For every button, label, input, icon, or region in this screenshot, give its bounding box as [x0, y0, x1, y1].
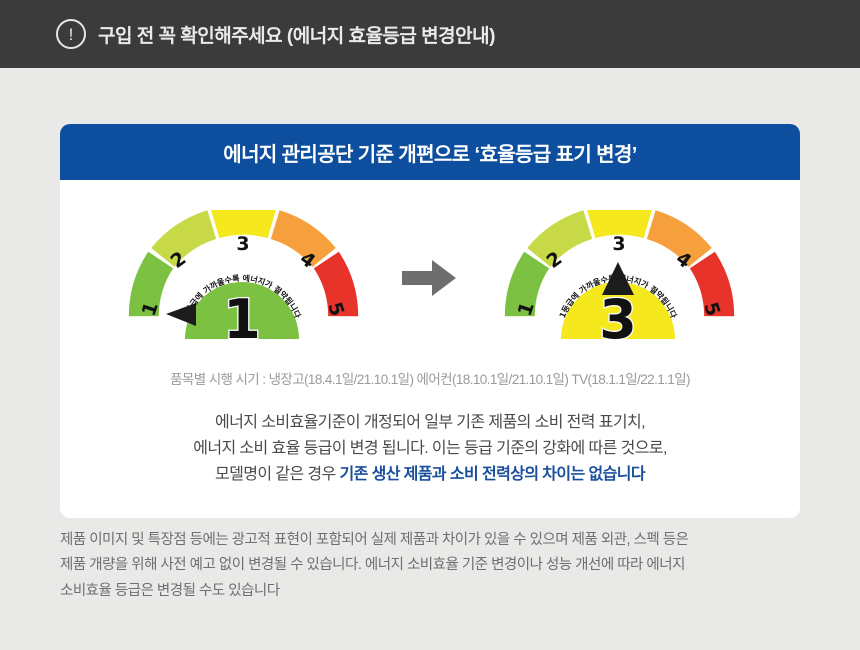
- card-banner-title: 에너지 관리공단 기준 개편으로 ‘효율등급 표기 변경’: [223, 138, 636, 167]
- schedule-note: 품목별 시행 시기 : 냉장고(18.4.1일/21.10.1일) 에어컨(18…: [80, 368, 780, 388]
- notice-header-bar: ! 구입 전 꼭 확인해주세요 (에너지 효율등급 변경안내): [0, 0, 860, 68]
- disclaimer-line-2: 제품 개량을 위해 사전 예고 없이 변경될 수 있습니다. 에너지 소비효율 …: [60, 553, 800, 578]
- notice-paragraph-line-3: 모델명이 같은 경우 기존 생산 제품과 소비 전력상의 차이는 없습니다: [80, 462, 780, 488]
- page-title: 구입 전 꼭 확인해주세요 (에너지 효율등급 변경안내): [98, 21, 495, 48]
- exclamation-glyph: !: [69, 26, 74, 43]
- gauge-comparison: 1 2 3 4 5 1등급에 가까울수록 에너지가 절약됩니다 1: [80, 210, 780, 346]
- before-gauge-svg: 1 2 3 4 5 1등급에 가까울수록 에너지가 절약됩니다 1: [113, 210, 371, 346]
- transition-arrow: [399, 253, 461, 303]
- segment-3-arc: [591, 220, 648, 224]
- before-gauge-pointer: [166, 303, 196, 326]
- before-grade-number: 1: [223, 288, 261, 346]
- notice-paragraph-line-2: 에너지 소비 효율 등급이 변경 됩니다. 이는 등급 기준의 강화에 따른 것…: [80, 436, 780, 462]
- segment-label-3: 3: [612, 233, 625, 255]
- notice-paragraph: 에너지 소비효율기준이 개정되어 일부 기존 제품의 소비 전력 표기치, 에너…: [80, 410, 780, 488]
- after-gauge-svg: 1 2 3 4 5 1등급에 가까울수록 에너지가 절약됩니다 3: [489, 210, 747, 346]
- energy-grade-card: 에너지 관리공단 기준 개편으로 ‘효율등급 표기 변경’: [60, 124, 800, 518]
- exclamation-circle-icon: !: [56, 19, 86, 49]
- disclaimer-line-3: 소비효율 등급은 변경될 수도 있습니다: [60, 579, 800, 604]
- after-grade-number: 3: [599, 288, 637, 346]
- after-gauge: 1 2 3 4 5 1등급에 가까울수록 에너지가 절약됩니다 3: [489, 210, 747, 346]
- segment-3-arc: [215, 220, 272, 224]
- notice-paragraph-highlight: 기존 생산 제품과 소비 전력상의 차이는 없습니다: [340, 466, 645, 483]
- notice-paragraph-line-3-plain: 모델명이 같은 경우: [215, 466, 340, 483]
- disclaimer-text: 제품 이미지 및 특장점 등에는 광고적 표현이 포함되어 실제 제품과 차이가…: [60, 528, 800, 604]
- before-gauge: 1 2 3 4 5 1등급에 가까울수록 에너지가 절약됩니다 1: [113, 210, 371, 346]
- card-body: 1 2 3 4 5 1등급에 가까울수록 에너지가 절약됩니다 1: [60, 180, 800, 518]
- right-arrow-shape: [402, 260, 456, 296]
- disclaimer-line-1: 제품 이미지 및 특장점 등에는 광고적 표현이 포함되어 실제 제품과 차이가…: [60, 528, 800, 553]
- segment-label-3: 3: [236, 233, 249, 255]
- right-arrow-icon: [402, 258, 458, 298]
- card-banner: 에너지 관리공단 기준 개편으로 ‘효율등급 표기 변경’: [60, 124, 800, 180]
- notice-paragraph-line-1: 에너지 소비효율기준이 개정되어 일부 기존 제품의 소비 전력 표기치,: [80, 410, 780, 436]
